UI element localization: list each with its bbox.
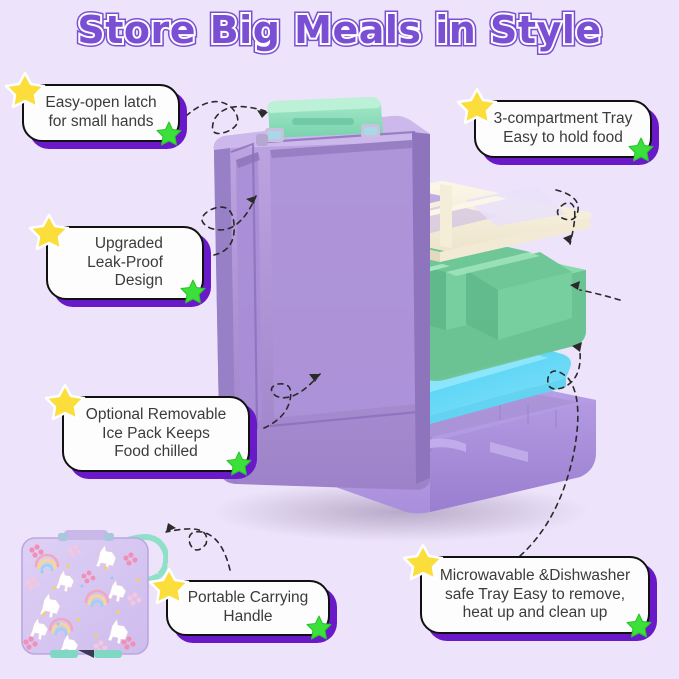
callout-microwave-dishwasher-safe[interactable]: Microwavable &Dishwasher safe Tray Easy … [420,556,650,634]
callout-text: Microwavable &Dishwasher safe Tray Easy … [430,563,640,628]
callout-removable-ice-pack[interactable]: Optional Removable Ice Pack Keeps Food c… [62,396,250,472]
callout-portable-carrying-handle[interactable]: Portable Carrying Handle [166,580,330,636]
callout-text: Easy-open latch for small hands [35,90,166,136]
unicorn-pattern-lunch-box [8,520,168,672]
callout-text: Upgraded Leak-Proof Design [77,231,173,296]
infographic-canvas: Store Big Meals in Style Store Big Meals… [0,0,679,679]
callout-3-compartment-tray[interactable]: 3-compartment Tray Easy to hold food [474,100,652,158]
callout-text: 3-compartment Tray Easy to hold food [484,106,643,152]
callout-upgraded-leak-proof[interactable]: Upgraded Leak-Proof Design [46,226,204,300]
callout-text: Optional Removable Ice Pack Keeps Food c… [76,402,236,467]
callout-text: Portable Carrying Handle [178,585,319,631]
callout-easy-open-latch[interactable]: Easy-open latch for small hands [22,84,180,142]
